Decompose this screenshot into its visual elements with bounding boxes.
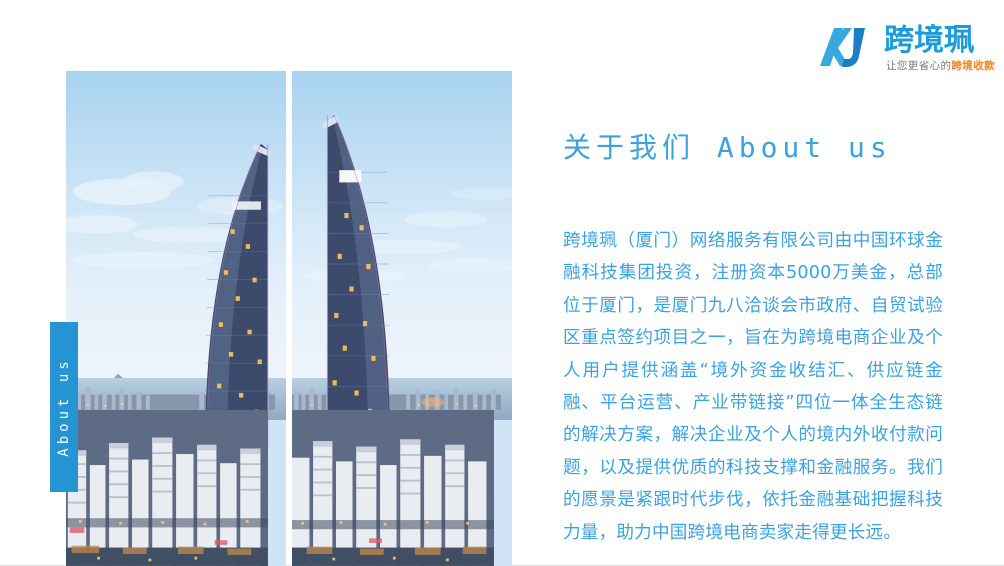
about-body-text: 跨境珮（厦门）网络服务有限公司由中国环球金融科技集团投资，注册资本5000万美金… (563, 225, 943, 549)
page-title: 关于我们 About us (563, 128, 943, 168)
foreground-city-right (292, 410, 494, 566)
brand-name: 跨境珮 (884, 24, 974, 58)
photo-left (66, 71, 286, 566)
foreground-city-left (66, 410, 268, 566)
about-section: 关于我们 About us 跨境珮（厦门）网络服务有限公司由中国环球金融科技集团… (563, 128, 943, 549)
kj-monogram-icon (818, 26, 880, 68)
brand-tagline: 让您更省心的跨境收款 (886, 60, 995, 72)
tagline-highlight: 跨境收款 (951, 60, 995, 72)
side-tab-label: About us (56, 357, 72, 456)
photo-pair (66, 71, 512, 566)
brand-logo[interactable]: 跨境珮 让您更省心的跨境收款 (818, 24, 978, 80)
conrad-tower-right (314, 111, 415, 448)
slide-root: 跨境珮 让您更省心的跨境收款 (0, 0, 1004, 566)
tagline-prefix: 让您更省心的 (886, 60, 951, 72)
side-tab-about-us[interactable]: About us (50, 322, 78, 492)
photo-right (292, 71, 512, 566)
conrad-tower-left (180, 140, 281, 447)
